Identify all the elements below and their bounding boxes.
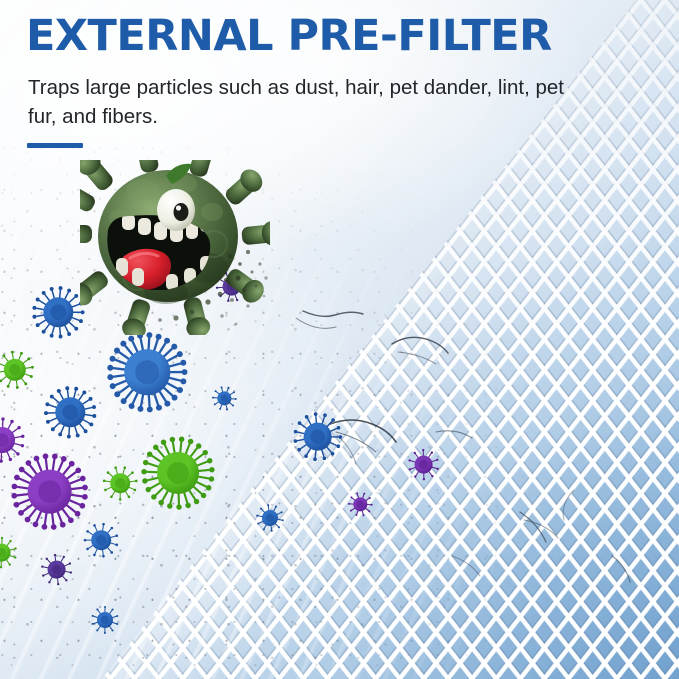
microbe-blue-6 xyxy=(209,383,240,414)
microbe-purple-3 xyxy=(38,551,75,588)
microbe-green-4 xyxy=(0,534,21,571)
microbe-blue-1 xyxy=(30,284,87,341)
microbe-green-1 xyxy=(0,348,37,392)
microbe-blue-7 xyxy=(291,410,344,463)
microbe-blue-2 xyxy=(106,331,189,414)
page-subtitle: Traps large particles such as dust, hair… xyxy=(28,73,594,131)
pre-filter-banner: EXTERNAL PRE-FILTER Traps large particle… xyxy=(0,0,679,679)
microbe-blue-3 xyxy=(42,384,99,441)
accent-bar xyxy=(27,143,83,148)
microbe-purple-6 xyxy=(345,489,376,520)
germ-monster xyxy=(80,160,270,335)
copy-block: EXTERNAL PRE-FILTER Traps large particle… xyxy=(26,14,616,131)
microbe-green-3 xyxy=(100,463,140,503)
page-title: EXTERNAL PRE-FILTER xyxy=(26,14,616,59)
microbe-purple-2 xyxy=(10,452,89,531)
microbe-blue-5 xyxy=(88,603,122,637)
microbe-green-2 xyxy=(140,435,216,511)
microbe-blue-8 xyxy=(253,501,287,535)
microbe-purple-5 xyxy=(405,446,442,483)
microbe-blue-4 xyxy=(81,520,121,560)
